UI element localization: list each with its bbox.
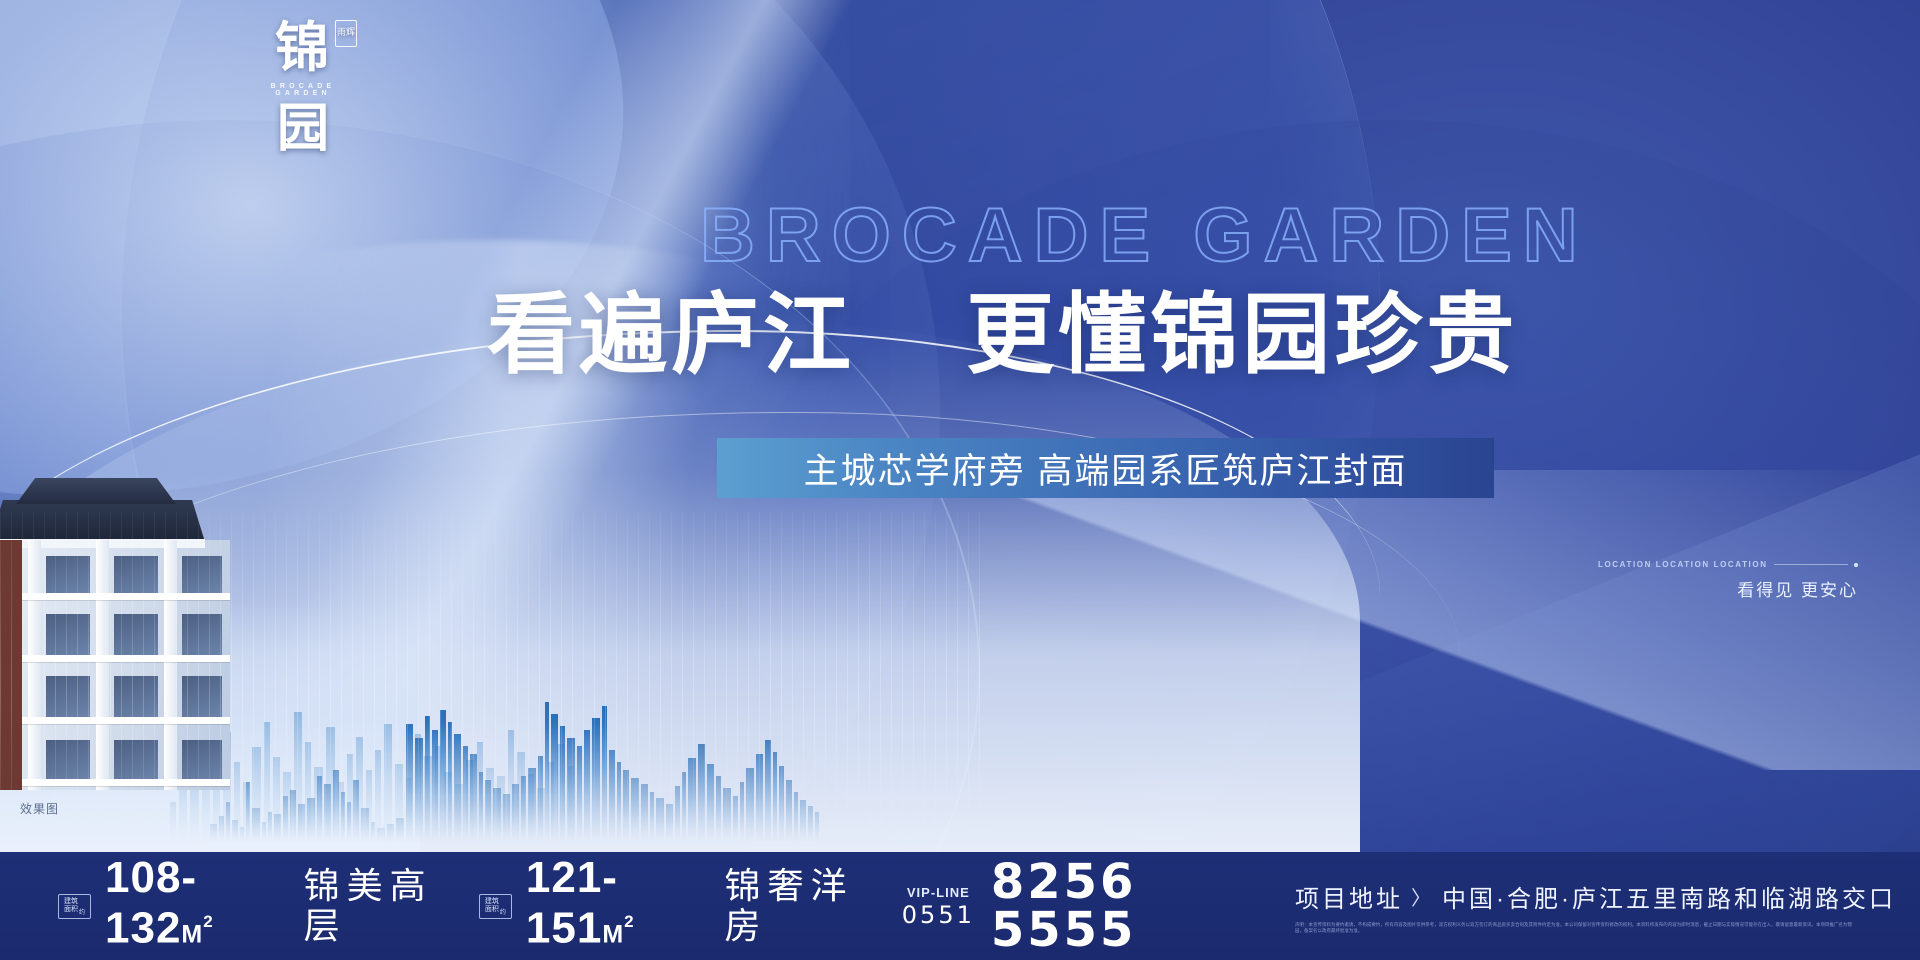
logo-english-name: BROCADE GARDEN (243, 83, 363, 97)
area-range-1: 108-132M2 (105, 856, 282, 957)
brand-logo[interactable]: 锦 雨辉 BROCADE GARDEN 园 (243, 18, 363, 168)
location-tagline-english: LOCATION LOCATION LOCATION (1598, 560, 1768, 569)
area-badge-2-line3: 约 (500, 907, 506, 916)
hero-headline-left: 看遍庐江 (487, 282, 855, 386)
location-tagline-chinese: 看得见 更安心 (1598, 576, 1858, 601)
legal-fine-print: 声明：本宣传资料为要约邀请，不构成要约，所有内容及图片仅供参考，双方权利义务以双… (1295, 922, 1855, 934)
vip-line-block: VIP-LINE 0551 (902, 886, 975, 927)
area-badge-2-line1: 建筑 (485, 898, 499, 906)
hero-headline: 看遍庐江 更懂锦园珍贵 (487, 282, 1507, 386)
area-badge-2-line2: 面积 (485, 906, 499, 914)
area-range-2-superscript: 2 (624, 912, 634, 931)
project-address-block: 项目地址 〉 中国·合肥·庐江五里南路和临湖路交口 声明：本宣传资料为要约邀请，… (1295, 879, 1896, 934)
logo-seal-stamp-icon: 雨辉 (335, 20, 357, 47)
hero-subtitle-bar: 主城芯学府旁 高端园系匠筑庐江封面 (717, 438, 1494, 498)
location-tagline: LOCATION LOCATION LOCATION 看得见 更安心 (1598, 560, 1858, 601)
area-badge-1-line2: 面积 (64, 906, 78, 914)
bottom-info-bar: 建筑 面积 约 108-132M2 锦美高层 建筑 面积 约 121-151M2… (0, 852, 1920, 960)
area-badge-1: 建筑 面积 约 (58, 894, 91, 919)
location-tagline-english-row: LOCATION LOCATION LOCATION (1598, 560, 1858, 569)
phone-number[interactable]: 82565555 (991, 858, 1261, 954)
foreground-vertical-lines (0, 512, 980, 842)
product-type-1: 锦美高层 (304, 866, 455, 946)
logo-top-row: 锦 雨辉 (275, 18, 331, 76)
vip-line-label: VIP-LINE (907, 886, 970, 899)
location-tagline-rule (1774, 564, 1848, 565)
project-address-label: 项目地址 (1295, 879, 1403, 914)
area-range-1-superscript: 2 (203, 912, 213, 931)
area-badge-1-line3: 约 (79, 907, 85, 916)
area-badge-2-lines: 建筑 面积 (485, 898, 499, 914)
poster-canvas: 锦 雨辉 BROCADE GARDEN 园 BROCADE GARDEN 看遍庐… (0, 0, 1920, 960)
hero-outline-english: BROCADE GARDEN (700, 196, 1589, 276)
area-range-1-unit: M (181, 920, 203, 948)
area-range-2: 121-151M2 (526, 856, 703, 957)
area-badge-1-line1: 建筑 (64, 898, 78, 906)
product-type-2: 锦奢洋房 (724, 866, 875, 946)
logo-character-jin: 锦 (275, 15, 331, 79)
project-address-row: 项目地址 〉 中国·合肥·庐江五里南路和临湖路交口 (1295, 879, 1896, 914)
logo-character-yuan: 园 (243, 101, 363, 157)
location-tagline-dot-icon (1854, 563, 1858, 567)
vip-line-area-code: 0551 (902, 903, 975, 927)
area-badge-2: 建筑 面积 约 (479, 894, 512, 919)
hero-subtitle-text: 主城芯学府旁 高端园系匠筑庐江封面 (804, 443, 1408, 494)
area-badge-1-lines: 建筑 面积 (64, 898, 78, 914)
area-range-2-unit: M (602, 920, 624, 948)
villa-roof-upper (16, 478, 176, 504)
hero-headline-right: 更懂锦园珍贵 (966, 282, 1518, 386)
rendering-disclaimer: 效果图 (20, 800, 59, 817)
project-address-value: 中国·合肥·庐江五里南路和临湖路交口 (1442, 879, 1896, 914)
phone-number-part2: 5555 (991, 902, 1137, 958)
chevron-right-icon: 〉 (1411, 882, 1434, 911)
